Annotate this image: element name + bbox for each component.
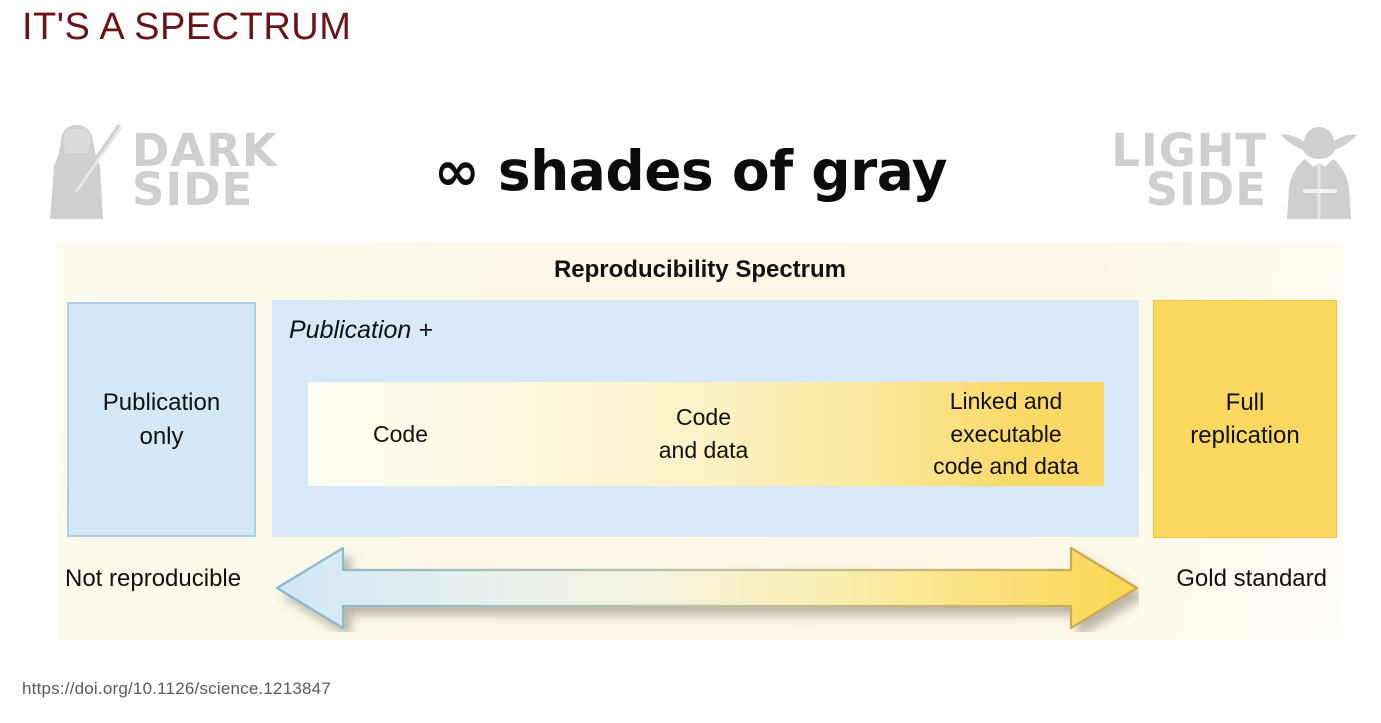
- publication-plus-panel: Publication + Code Code and data Linked …: [272, 300, 1139, 537]
- publication-plus-label: Publication +: [289, 316, 433, 345]
- spectrum-axis-row: Not reproducible: [57, 543, 1343, 633]
- light-side-wordmark: LIGHT SIDE: [1111, 132, 1267, 209]
- band-cell-linked-executable: Linked and executable code and data: [908, 385, 1104, 484]
- full-replication-box: Full replication: [1153, 300, 1337, 538]
- full-replication-label: Full replication: [1190, 386, 1299, 452]
- yoda-silhouette-icon: [1275, 119, 1363, 223]
- doi-footer-link[interactable]: https://doi.org/10.1126/science.1213847: [22, 679, 331, 699]
- publication-only-label: Publication only: [103, 386, 220, 452]
- dark-side-logo: DARK SIDE: [46, 108, 278, 234]
- axis-label-gold-standard: Gold standard: [1176, 565, 1327, 593]
- headline-text: ∞ shades of gray: [434, 139, 947, 203]
- axis-label-not-reproducible: Not reproducible: [65, 565, 241, 593]
- darth-vader-silhouette-icon: [46, 119, 124, 223]
- page-title: IT'S A SPECTRUM: [22, 6, 351, 49]
- publication-only-box: Publication only: [67, 302, 256, 537]
- figure-caption: Reproducibility Spectrum: [57, 256, 1343, 284]
- band-cell-code-and-data: Code and data: [611, 401, 796, 467]
- light-side-logo: LIGHT SIDE: [1111, 108, 1363, 234]
- spectrum-gradient-band: Code Code and data Linked and executable…: [308, 382, 1104, 486]
- double-headed-arrow-icon: [275, 544, 1139, 632]
- hero-band: DARK SIDE LIGHT SIDE ∞ shades of gray: [0, 108, 1381, 234]
- reproducibility-spectrum-figure: Reproducibility Spectrum Publication onl…: [57, 243, 1343, 640]
- dark-side-wordmark: DARK SIDE: [132, 132, 278, 209]
- band-cell-code: Code: [308, 418, 493, 451]
